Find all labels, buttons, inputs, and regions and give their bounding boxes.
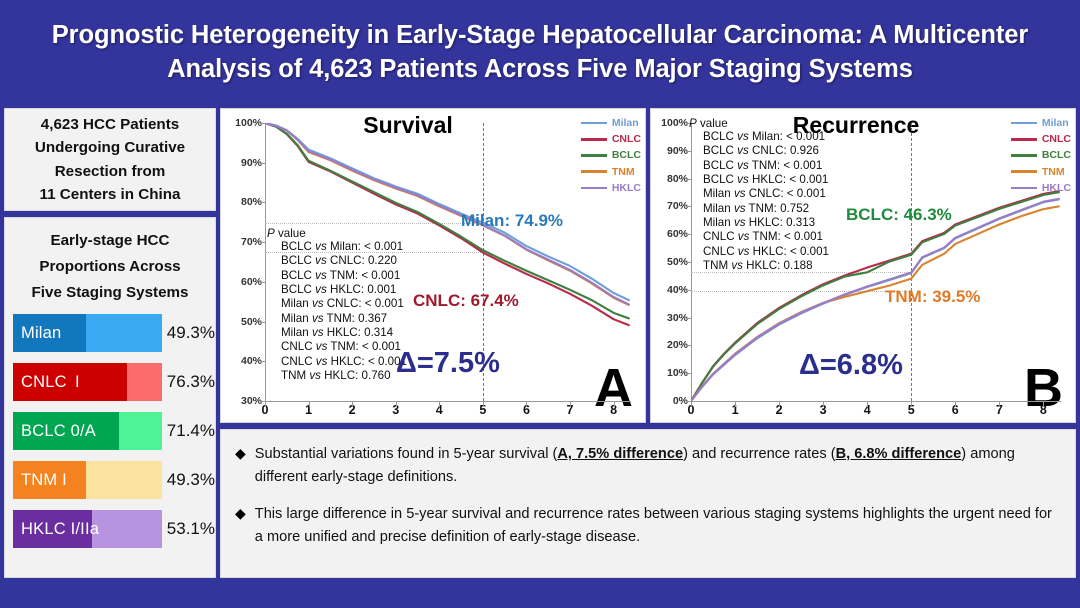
pvalue-heading: P value [689, 117, 829, 130]
proportion-bar-row: Milan49.3% [5, 314, 215, 352]
pvalue-row: CNLC vs HKLC: < 0.001 [267, 355, 407, 369]
legend-swatch [1011, 122, 1037, 125]
proportion-bar-track: BCLC 0/A [13, 412, 162, 450]
panel-b-bclc-annotation: BCLC: 46.3% [846, 205, 952, 225]
legend-swatch [581, 122, 607, 125]
conclusion-bullet: ◆Substantial variations found in 5-year … [235, 443, 1055, 488]
panel-a-pvalue-box: P valueBCLC vs Milan: < 0.001BCLC vs CNL… [267, 227, 407, 383]
proportion-bar-row: HKLC I/IIa53.1% [5, 510, 215, 548]
bottom-band [0, 590, 1080, 608]
proportion-bar-label: CNLC I [21, 363, 80, 401]
pvalue-row: Milan vs TNM: 0.752 [689, 202, 829, 216]
panel-a-cnlc-annotation: CNLC: 67.4% [413, 291, 519, 311]
summary-line: Resection from [55, 160, 166, 183]
pvalue-row: BCLC vs Milan: < 0.001 [267, 240, 407, 254]
legend-item: CNLC [581, 131, 641, 147]
main-content: Survival A MilanCNLCBCLCTNMHKLC P valueB… [220, 104, 1076, 582]
legend-item: TNM [1011, 164, 1071, 180]
legend-item: BCLC [1011, 147, 1071, 163]
pvalue-row: BCLC vs HKLC: 0.001 [267, 283, 407, 297]
y-tick-label: 100% [221, 117, 262, 129]
legend-swatch [581, 187, 607, 190]
proportion-bar-row: CNLC I76.3% [5, 363, 215, 401]
pvalue-row: BCLC vs HKLC: < 0.001 [689, 173, 829, 187]
proportion-bar-track: Milan [13, 314, 162, 352]
y-tick-label: 40% [221, 355, 262, 367]
proportion-bar-percent: 49.3% [167, 470, 215, 490]
pvalue-row: Milan vs CNLC: < 0.001 [689, 187, 829, 201]
legend-item: Milan [1011, 115, 1071, 131]
legend-label: CNLC [612, 133, 641, 145]
legend-label: HKLC [612, 182, 641, 194]
panel-a-delta-annotation: Δ=7.5% [396, 347, 500, 380]
proportion-bar-percent: 53.1% [167, 519, 215, 539]
panel-a-survival: Survival A MilanCNLCBCLCTNMHKLC P valueB… [220, 108, 646, 423]
y-tick-label: 80% [221, 196, 262, 208]
pvalue-heading: P value [267, 227, 407, 240]
pvalue-row: BCLC vs TNM: < 0.001 [689, 159, 829, 173]
proportion-bar-track: HKLC I/IIa [13, 510, 162, 548]
proportion-bar-chart: Milan49.3%CNLC I76.3%BCLC 0/A71.4%TNM I4… [5, 314, 215, 548]
y-tick-label: 80% [651, 173, 688, 185]
legend-label: TNM [1042, 166, 1065, 178]
pvalue-row: TNM vs HKLC: 0.760 [267, 369, 407, 383]
legend-label: HKLC [1042, 182, 1071, 194]
pvalue-row: BCLC vs CNLC: 0.926 [689, 144, 829, 158]
legend-label: Milan [612, 117, 639, 129]
legend-item: BCLC [581, 147, 641, 163]
page-title: Prognostic Heterogeneity in Early-Stage … [25, 18, 1055, 86]
legend-swatch [581, 138, 607, 141]
bullet-text: Substantial variations found in 5-year s… [255, 443, 1055, 488]
pvalue-row: Milan vs CNLC: < 0.001 [267, 297, 407, 311]
y-tick-label: 20% [651, 339, 688, 351]
proportion-bar-label: BCLC 0/A [21, 412, 96, 450]
y-tick-label: 90% [651, 145, 688, 157]
y-tick-label: 90% [221, 157, 262, 169]
proportions-heading-line: Five Staging Systems [11, 280, 209, 306]
legend-label: BCLC [612, 149, 641, 161]
legend-swatch [581, 170, 607, 173]
conclusion-bullet: ◆This large difference in 5-year surviva… [235, 503, 1055, 548]
proportion-bar-label: TNM I [21, 461, 67, 499]
y-tick-label: 70% [651, 200, 688, 212]
y-tick-label: 30% [651, 312, 688, 324]
panel-b-delta-annotation: Δ=6.8% [799, 349, 903, 382]
proportion-bar-label: HKLC I/IIa [21, 510, 99, 548]
pvalue-row: Milan vs HKLC: 0.313 [689, 216, 829, 230]
legend-label: CNLC [1042, 133, 1071, 145]
legend-swatch [1011, 170, 1037, 173]
panel-a-milan-annotation: Milan: 74.9% [461, 211, 563, 231]
proportions-heading: Early-stage HCC Proportions Across Five … [5, 224, 215, 308]
patient-summary-card: 4,623 HCC Patients Undergoing Curative R… [4, 108, 216, 211]
panel-a-legend: MilanCNLCBCLCTNMHKLC [581, 115, 641, 196]
summary-line: 11 Centers in China [40, 183, 181, 206]
y-tick-label: 60% [221, 276, 262, 288]
pvalue-row: CNLC vs HKLC: < 0.001 [689, 245, 829, 259]
y-tick-label: 30% [221, 395, 262, 407]
panel-b-legend: MilanCNLCBCLCTNMHKLC [1011, 115, 1071, 196]
y-tick-label: 60% [651, 228, 688, 240]
poster-root: Prognostic Heterogeneity in Early-Stage … [0, 0, 1080, 608]
y-tick-label: 50% [651, 256, 688, 268]
summary-line: 4,623 HCC Patients [41, 113, 179, 136]
legend-item: CNLC [1011, 131, 1071, 147]
bullet-marker-icon: ◆ [235, 443, 246, 488]
y-tick-label: 70% [221, 236, 262, 248]
legend-item: HKLC [581, 180, 641, 196]
summary-line: Undergoing Curative [35, 136, 185, 159]
legend-item: Milan [581, 115, 641, 131]
y-tick-label: 40% [651, 284, 688, 296]
pvalue-row: BCLC vs Milan: < 0.001 [689, 130, 829, 144]
proportion-bar-percent: 71.4% [167, 421, 215, 441]
proportion-bar-track: CNLC I [13, 363, 162, 401]
km-panels: Survival A MilanCNLCBCLCTNMHKLC P valueB… [220, 108, 1076, 423]
proportion-bar-track: TNM I [13, 461, 162, 499]
proportion-bar-row: BCLC 0/A71.4% [5, 412, 215, 450]
y-tick-label: 50% [221, 316, 262, 328]
legend-swatch [581, 154, 607, 157]
proportion-bar-row: TNM I49.3% [5, 461, 215, 499]
legend-label: Milan [1042, 117, 1069, 129]
legend-item: TNM [581, 164, 641, 180]
panel-b-recurrence: Recurrence B MilanCNLCBCLCTNMHKLC P valu… [650, 108, 1076, 423]
pvalue-row: Milan vs TNM: 0.367 [267, 312, 407, 326]
legend-swatch [1011, 187, 1037, 190]
body-area: 4,623 HCC Patients Undergoing Curative R… [0, 104, 1080, 590]
bullet-marker-icon: ◆ [235, 503, 246, 548]
title-band: Prognostic Heterogeneity in Early-Stage … [0, 0, 1080, 104]
proportion-bar-percent: 49.3% [167, 323, 215, 343]
sidebar: 4,623 HCC Patients Undergoing Curative R… [4, 104, 216, 582]
proportions-heading-line: Early-stage HCC [11, 228, 209, 254]
proportions-card: Early-stage HCC Proportions Across Five … [4, 217, 216, 578]
conclusions-card: ◆Substantial variations found in 5-year … [220, 429, 1076, 578]
y-tick-label: 100% [651, 117, 688, 129]
panel-b-tnm-annotation: TNM: 39.5% [885, 287, 980, 307]
pvalue-row: CNLC vs TNM: < 0.001 [689, 230, 829, 244]
y-tick-label: 0% [651, 395, 688, 407]
pvalue-row: BCLC vs TNM: < 0.001 [267, 269, 407, 283]
panel-b-pvalue-box: P valueBCLC vs Milan: < 0.001BCLC vs CNL… [689, 117, 829, 273]
proportion-bar-label: Milan [21, 314, 61, 352]
legend-item: HKLC [1011, 180, 1071, 196]
y-tick-label: 10% [651, 367, 688, 379]
legend-swatch [1011, 154, 1037, 157]
proportion-bar-percent: 76.3% [167, 372, 215, 392]
pvalue-row: CNLC vs TNM: < 0.001 [267, 340, 407, 354]
pvalue-row: TNM vs HKLC: 0.188 [689, 259, 829, 273]
pvalue-row: Milan vs HKLC: 0.314 [267, 326, 407, 340]
legend-label: TNM [612, 166, 635, 178]
legend-label: BCLC [1042, 149, 1071, 161]
bullet-text: This large difference in 5-year survival… [255, 503, 1055, 548]
pvalue-row: BCLC vs CNLC: 0.220 [267, 254, 407, 268]
legend-swatch [1011, 138, 1037, 141]
proportions-heading-line: Proportions Across [11, 254, 209, 280]
